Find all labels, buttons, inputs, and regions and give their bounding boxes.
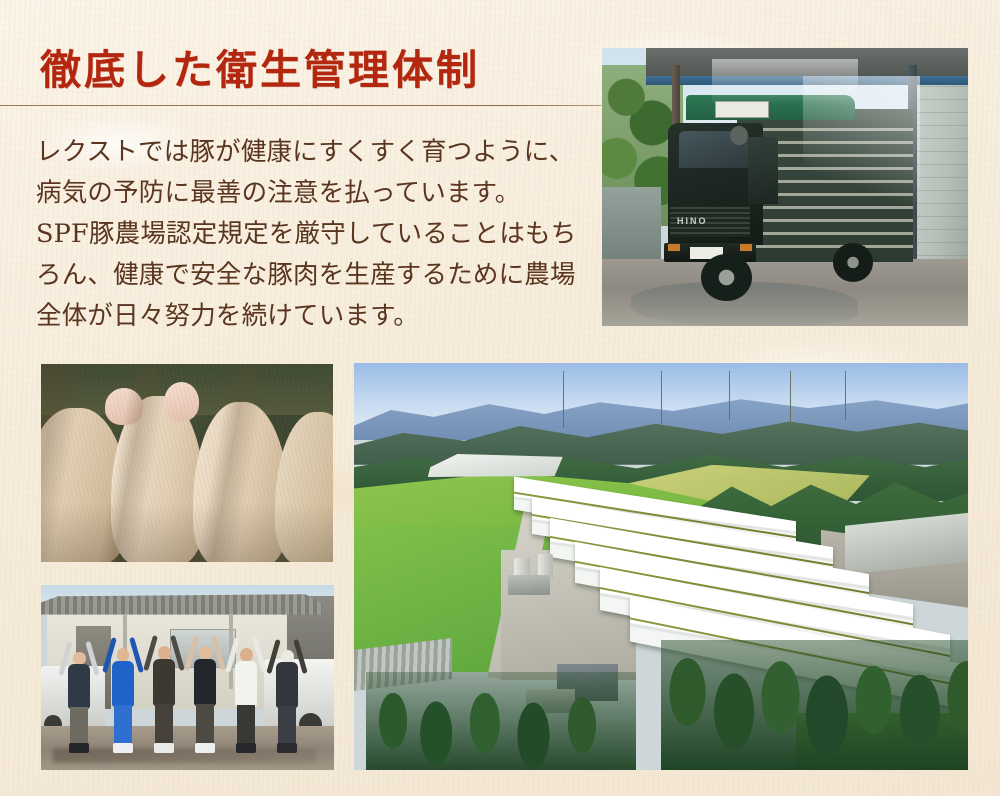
torso (153, 659, 175, 706)
head (117, 648, 130, 662)
hino-badge: HINO (677, 216, 732, 230)
legs (114, 705, 133, 745)
staff-person-2 (108, 648, 137, 753)
legs (278, 706, 297, 745)
legs (70, 707, 89, 746)
livestock-truck-washing-photo: HINO (602, 48, 968, 326)
cab-door (748, 137, 777, 204)
pigs-in-pen-photo (41, 364, 333, 562)
staff-person-3 (149, 646, 178, 753)
torso (112, 661, 134, 707)
boots (113, 743, 133, 754)
body-paragraph-2: SPF豚農場認定規定を厳守していることはもちろん、健康で安全な豚肉を生産するため… (36, 214, 596, 337)
pigs-scene (41, 364, 333, 562)
corrugated-roof (41, 594, 322, 614)
pig-hair-texture (41, 364, 333, 562)
head (240, 648, 253, 662)
page-title: 徹底した衛生管理体制 (40, 36, 480, 96)
body-paragraph-1: レクストでは豚が健康にすくすく育つように、病気の予防に最善の注意を払っています。 (36, 132, 596, 214)
torso (194, 659, 216, 706)
staff-scene (41, 585, 334, 770)
torso (235, 661, 257, 707)
boots (69, 743, 89, 753)
boots (277, 743, 297, 753)
farm-scene (354, 363, 968, 770)
torso (68, 664, 90, 709)
aerial-farm-photo (354, 363, 968, 770)
head (281, 650, 294, 663)
legs (196, 704, 215, 745)
headlamp-right-icon (740, 244, 752, 251)
boots (154, 743, 174, 754)
torso (276, 662, 298, 708)
staff-person-5 (231, 648, 260, 753)
title-divider (0, 105, 601, 106)
staff-person-4 (190, 646, 219, 753)
side-shed (602, 187, 661, 259)
boots (236, 743, 256, 754)
legs (155, 704, 174, 745)
truck-scene: HINO (602, 48, 968, 326)
head (73, 652, 86, 665)
head (158, 646, 171, 660)
atmospheric-haze (354, 363, 968, 770)
front-wheel (701, 254, 752, 301)
legs (237, 705, 256, 745)
staff-person-6 (272, 650, 301, 754)
head (199, 646, 212, 660)
farm-staff-photo (41, 585, 334, 770)
water-spray-top (712, 59, 858, 103)
body-copy: レクストでは豚が健康にすくすく育つように、病気の予防に最善の注意を払っています。… (36, 132, 596, 337)
staff-person-1 (64, 652, 93, 754)
headlamp-left-icon (668, 244, 680, 251)
boots (195, 743, 215, 754)
